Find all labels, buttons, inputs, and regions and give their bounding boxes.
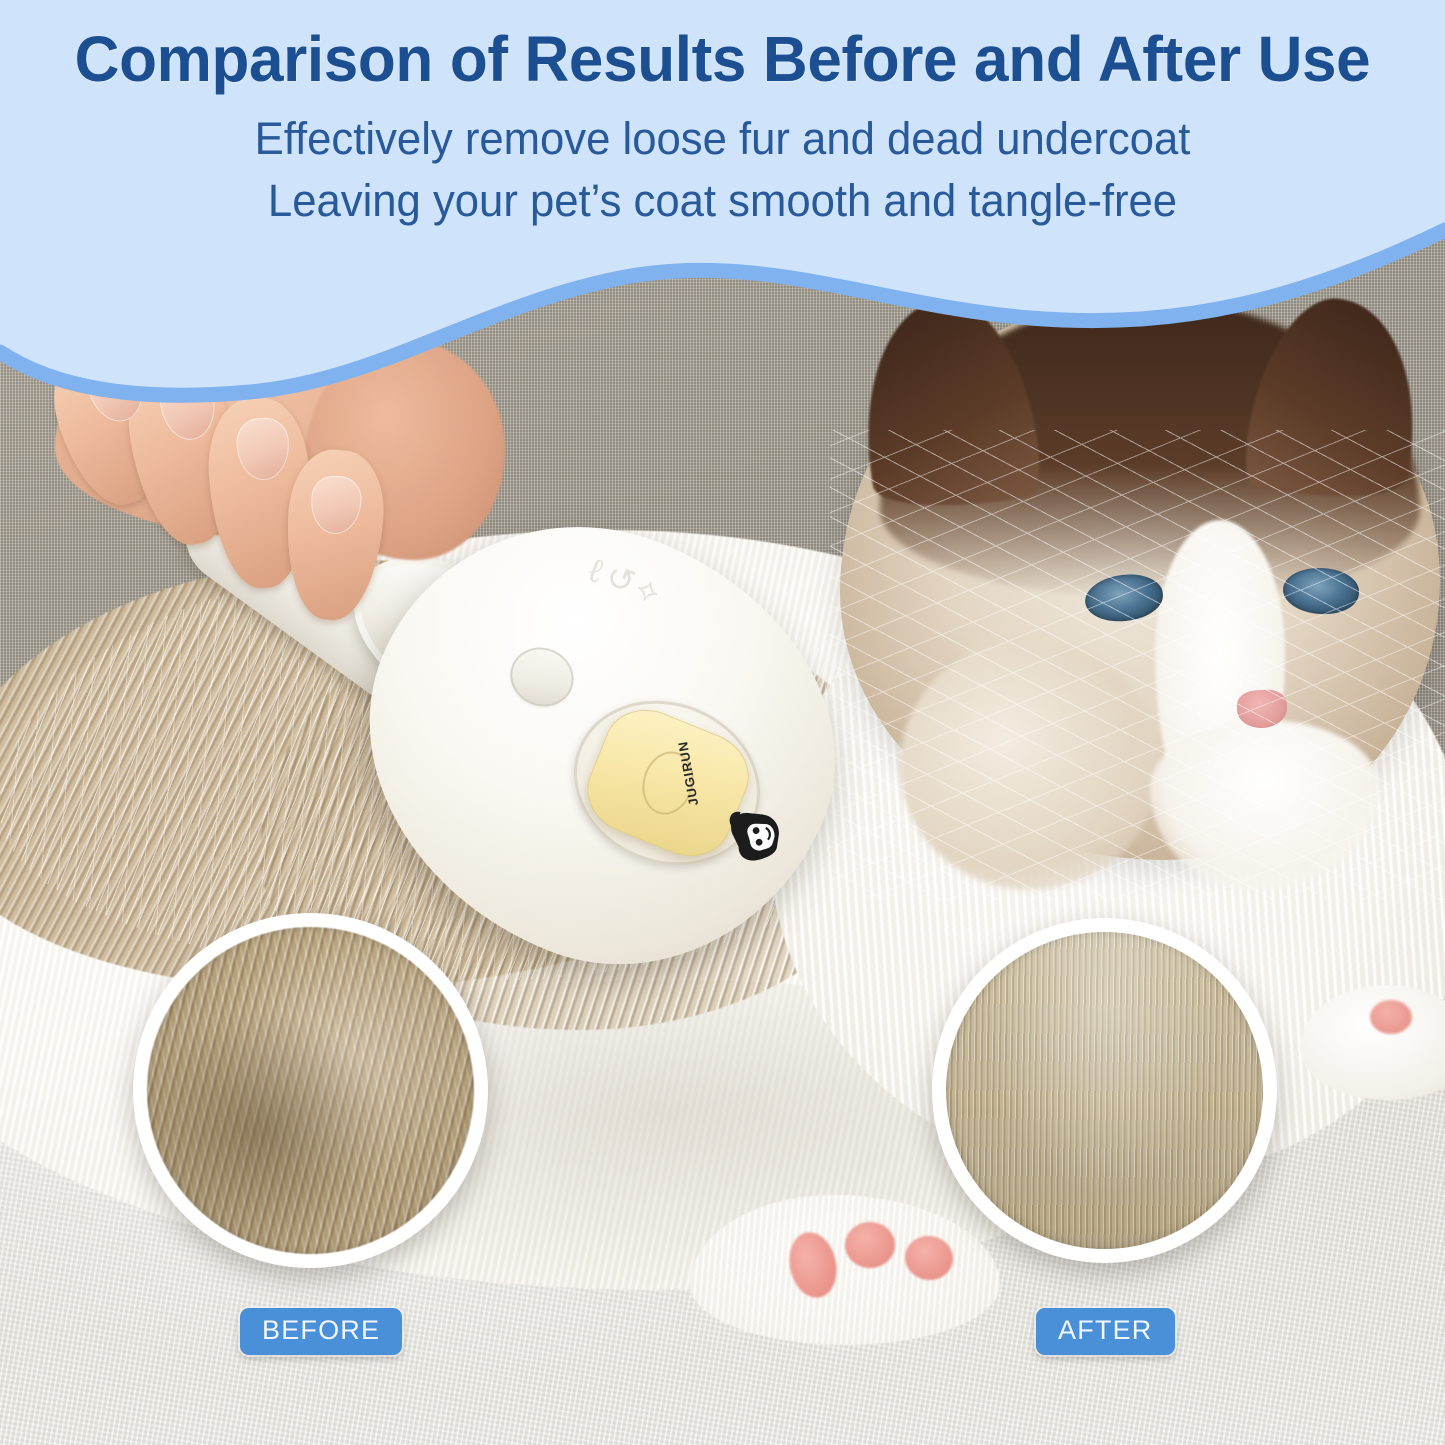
human-hand — [55, 300, 485, 660]
subtitle-line-1: Effectively remove loose fur and dead un… — [22, 109, 1424, 169]
before-fur-closeup — [147, 927, 474, 1254]
cat-paw-pad — [1370, 1000, 1412, 1034]
after-fur-closeup — [946, 932, 1263, 1249]
dog-head-icon — [715, 789, 808, 881]
before-closeup-circle — [133, 913, 488, 1268]
subtitle-line-2: Leaving your pet’s coat smooth and tangl… — [22, 171, 1424, 231]
after-closeup-circle — [932, 918, 1277, 1263]
banner-text-block: Comparison of Results Before and After U… — [0, 0, 1445, 231]
before-badge: BEFORE — [240, 1308, 402, 1355]
cat-left-cheek — [900, 640, 1160, 890]
product-comparison-image: ℓ↺⟡ JUGIRUN — [0, 0, 1445, 1445]
page-title: Comparison of Results Before and After U… — [22, 26, 1424, 93]
cat-paw-pad — [845, 1222, 895, 1268]
after-badge: AFTER — [1036, 1308, 1175, 1355]
